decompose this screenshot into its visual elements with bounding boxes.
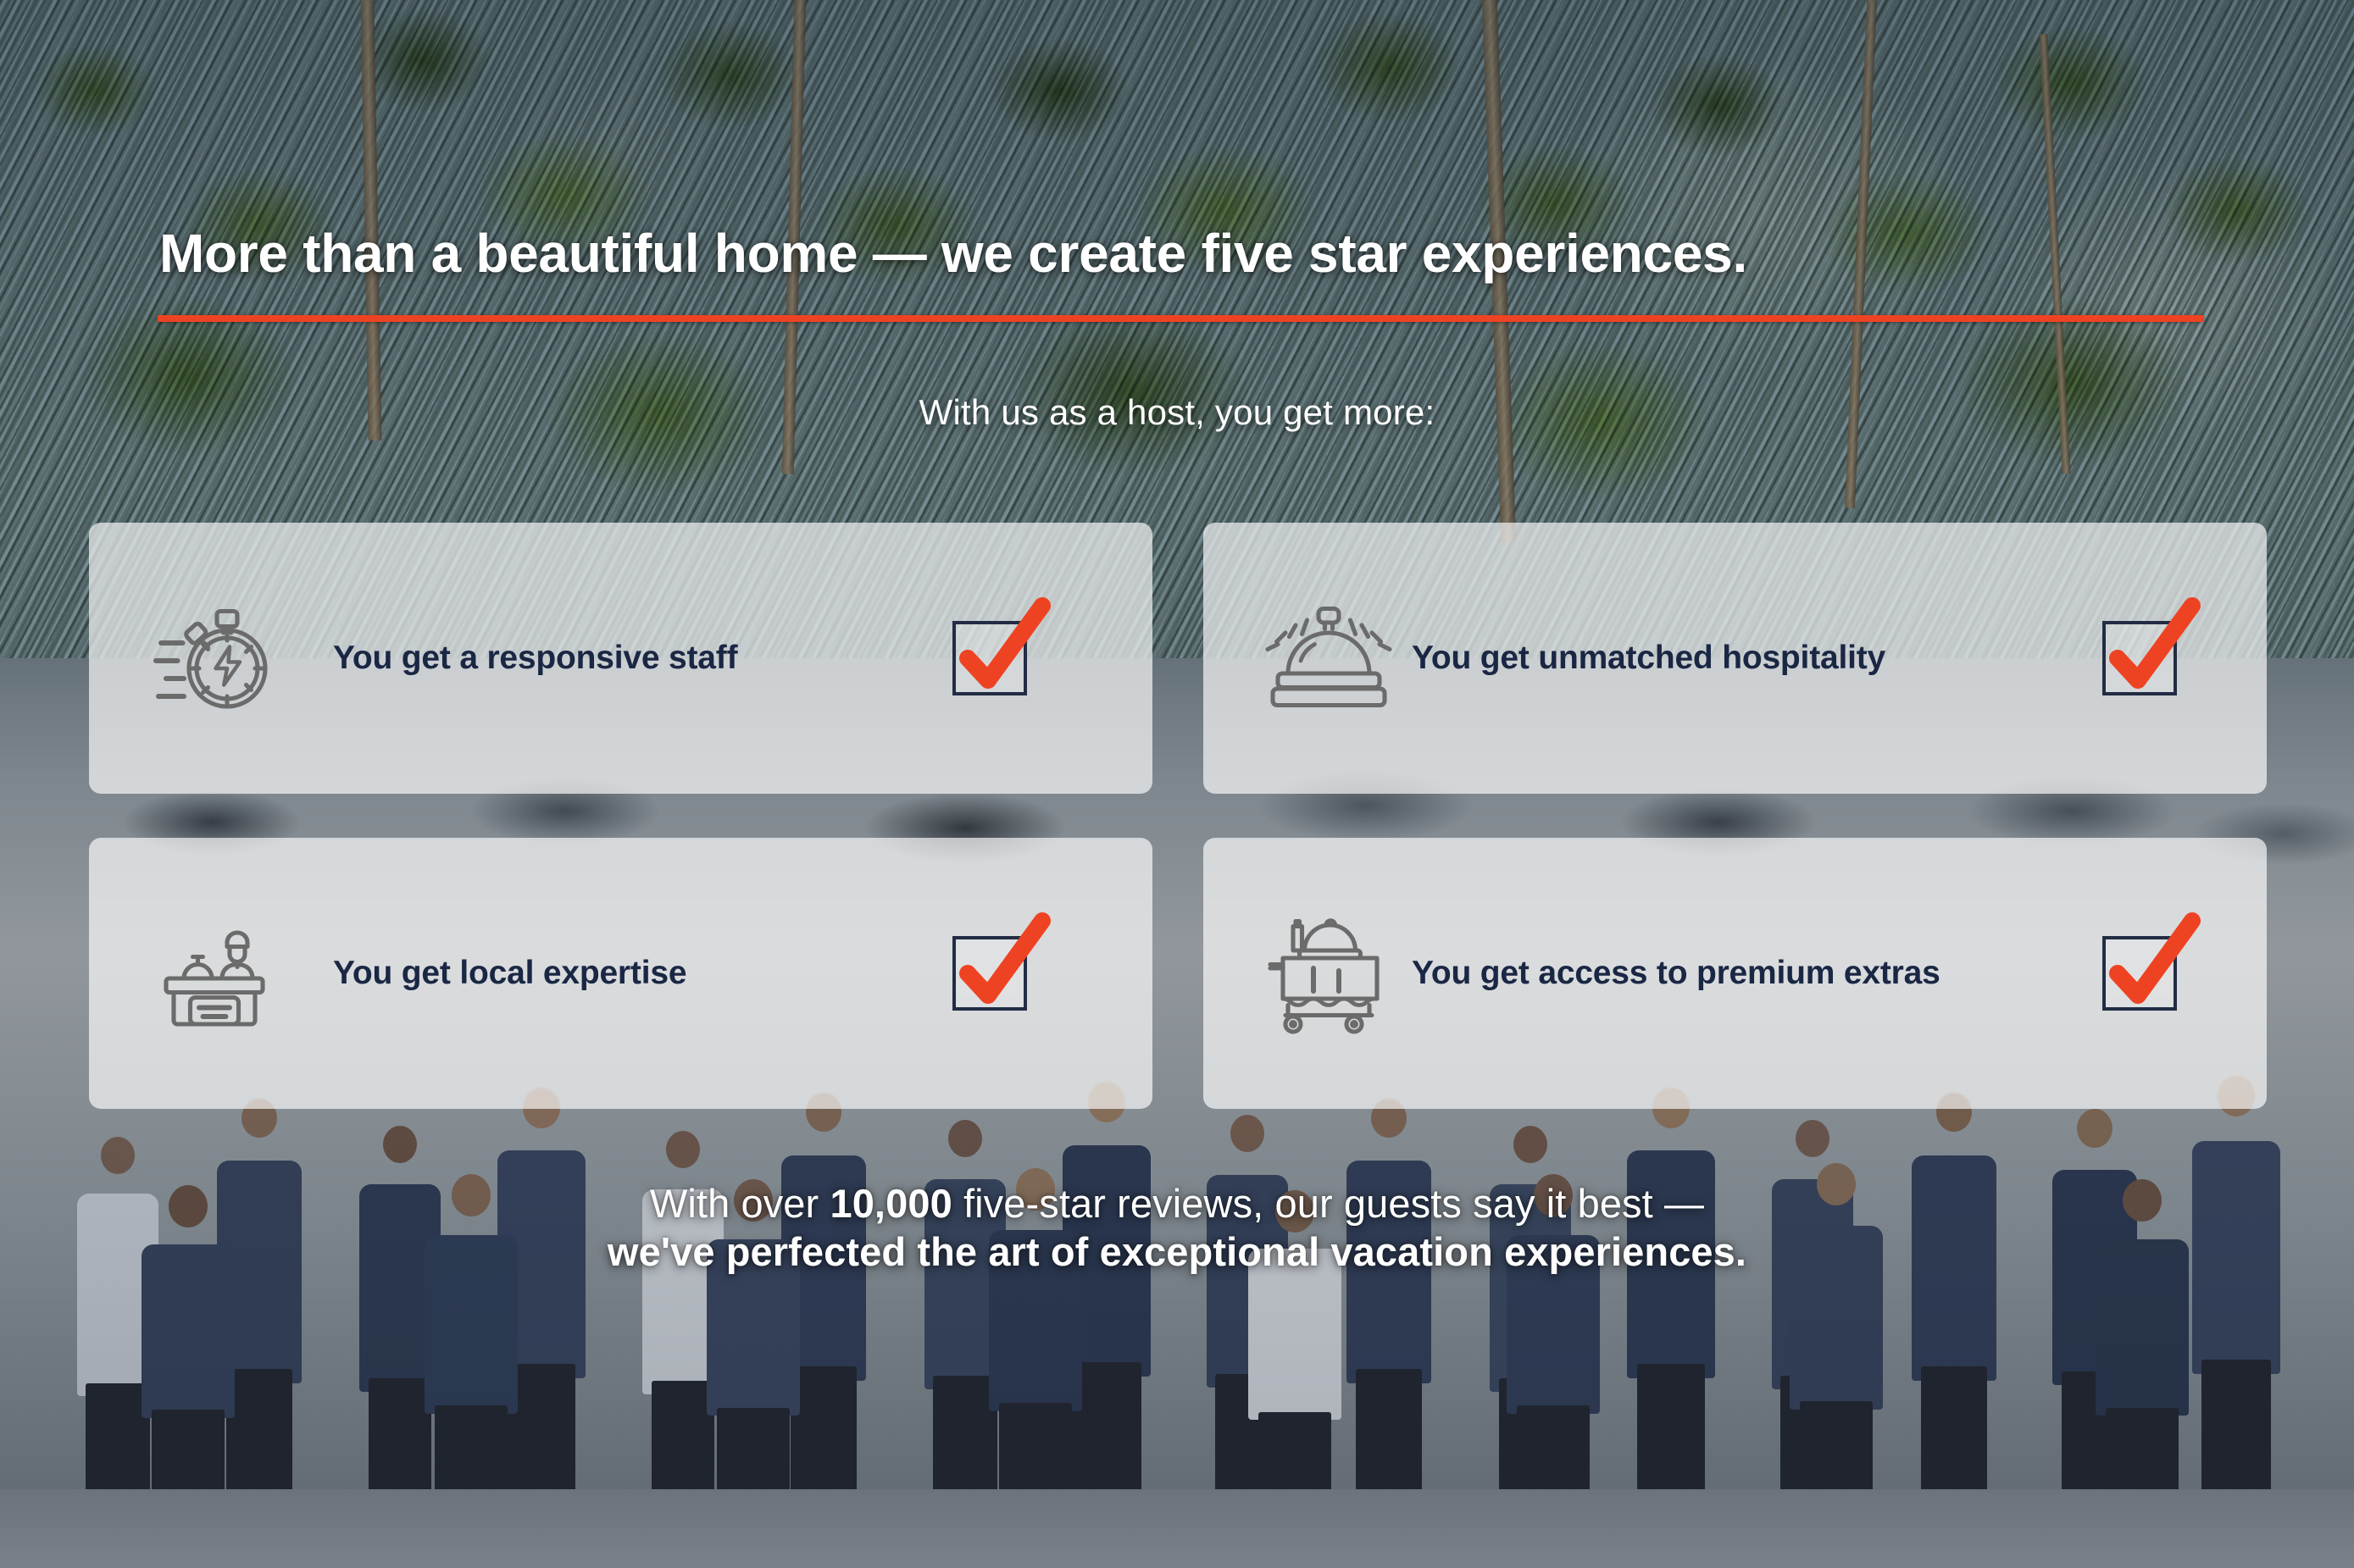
stopwatch-speed-icon — [147, 590, 282, 726]
benefit-card-premium-extras[interactable]: You get access to premium extras — [1203, 838, 2267, 1109]
benefit-card-grid: You get a responsive staff — [89, 523, 2267, 1109]
check-mark-icon — [2097, 599, 2202, 704]
checkbox-checked[interactable] — [952, 936, 1027, 1011]
reception-desk-icon — [147, 906, 282, 1041]
benefit-card-label: You get a responsive staff — [333, 640, 737, 677]
slide-root: More than a beautiful home — we create f… — [0, 0, 2354, 1568]
room-service-cart-icon — [1261, 906, 1396, 1041]
review-count: 10,000 — [830, 1181, 952, 1226]
benefit-card-label: You get access to premium extras — [1412, 955, 1940, 992]
benefit-card-local-expertise[interactable]: You get local expertise — [89, 838, 1152, 1109]
footer-line1-pre: With over — [650, 1181, 830, 1226]
checkbox-checked[interactable] — [952, 621, 1027, 695]
benefit-card-responsive-staff[interactable]: You get a responsive staff — [89, 523, 1152, 794]
benefit-card-label: You get local expertise — [333, 955, 686, 992]
service-bell-icon — [1261, 590, 1396, 726]
checkbox-checked[interactable] — [2102, 936, 2177, 1011]
check-mark-icon — [947, 599, 1052, 704]
footer-statement: With over 10,000 five-star reviews, our … — [0, 1179, 2354, 1277]
subheading: With us as a host, you get more: — [0, 392, 2354, 433]
page-title: More than a beautiful home — we create f… — [159, 225, 2218, 282]
checkbox-checked[interactable] — [2102, 621, 2177, 695]
title-underline-rule — [158, 315, 2204, 322]
footer-line1-post: five-star reviews, our guests say it bes… — [952, 1181, 1704, 1226]
benefit-card-unmatched-hospitality[interactable]: You get unmatched hospitality — [1203, 523, 2267, 794]
check-mark-icon — [2097, 914, 2202, 1019]
check-mark-icon — [947, 914, 1052, 1019]
slide-content: More than a beautiful home — we create f… — [0, 0, 2354, 1568]
benefit-card-label: You get unmatched hospitality — [1412, 640, 1885, 677]
footer-line2: we've perfected the art of exceptional v… — [0, 1227, 2354, 1276]
